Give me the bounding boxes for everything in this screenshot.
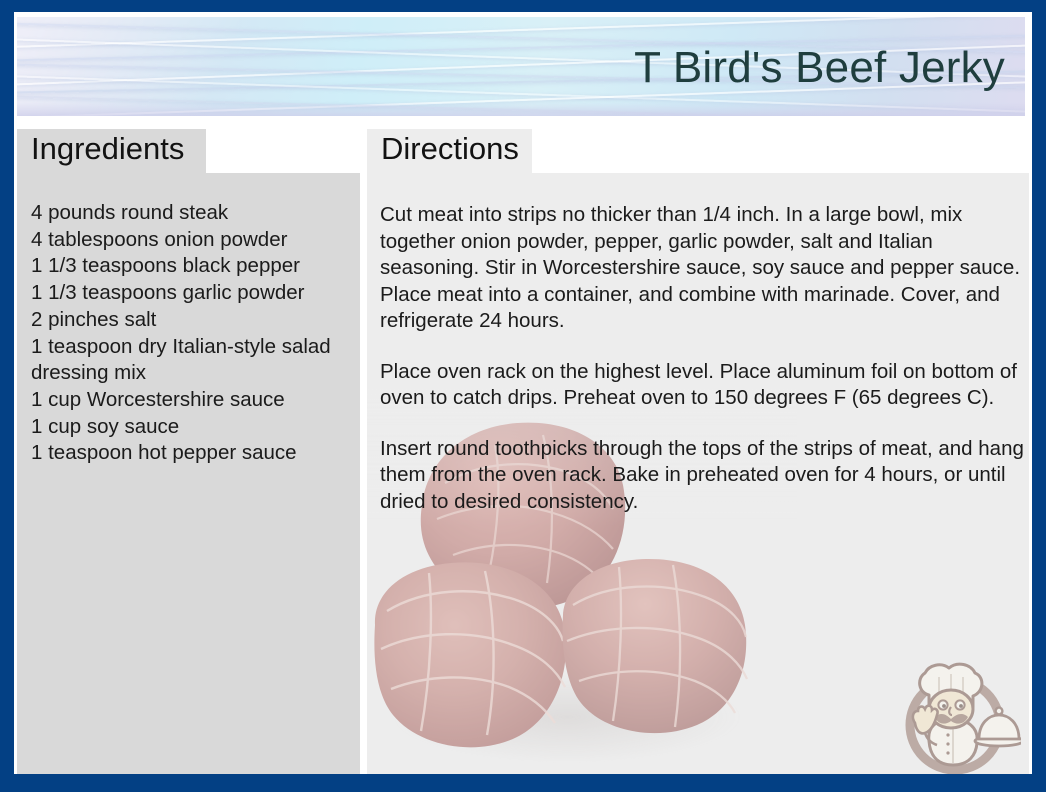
chef-mascot-icon (889, 649, 1021, 774)
directions-panel: Cut meat into strips no thicker than 1/4… (367, 129, 1029, 774)
title-banner: T Bird's Beef Jerky (17, 17, 1025, 116)
ingredients-heading: Ingredients (31, 131, 184, 167)
banner-bottom-tint (17, 102, 1025, 116)
directions-paragraph: Place oven rack on the highest level. Pl… (380, 359, 1025, 412)
list-item: 1 cup Worcestershire sauce (31, 387, 351, 414)
directions-paragraph: Insert round toothpicks through the tops… (380, 436, 1025, 516)
list-item: 4 pounds round steak (31, 200, 351, 227)
list-item: 1 teaspoon hot pepper sauce (31, 440, 351, 467)
recipe-page: T Bird's Beef Jerky Ingredients 4 pounds… (14, 12, 1032, 774)
directions-paragraph: Cut meat into strips no thicker than 1/4… (380, 202, 1025, 335)
list-item: 1 cup soy sauce (31, 414, 351, 441)
ingredients-heading-notch (206, 129, 360, 173)
directions-body: Cut meat into strips no thicker than 1/4… (380, 202, 1025, 539)
ingredients-list: 4 pounds round steak 4 tablespoons onion… (31, 200, 351, 467)
list-item: 1 teaspoon dry Italian-style salad dress… (31, 334, 351, 387)
directions-heading: Directions (381, 131, 519, 167)
recipe-title: T Bird's Beef Jerky (634, 43, 1005, 93)
recipe-card: T Bird's Beef Jerky Ingredients 4 pounds… (0, 0, 1046, 792)
list-item: 2 pinches salt (31, 307, 351, 334)
list-item: 4 tablespoons onion powder (31, 227, 351, 254)
list-item: 1 1/3 teaspoons garlic powder (31, 280, 351, 307)
directions-heading-notch (532, 129, 1029, 173)
ingredients-panel: Ingredients 4 pounds round steak 4 table… (17, 129, 360, 774)
list-item: 1 1/3 teaspoons black pepper (31, 253, 351, 280)
